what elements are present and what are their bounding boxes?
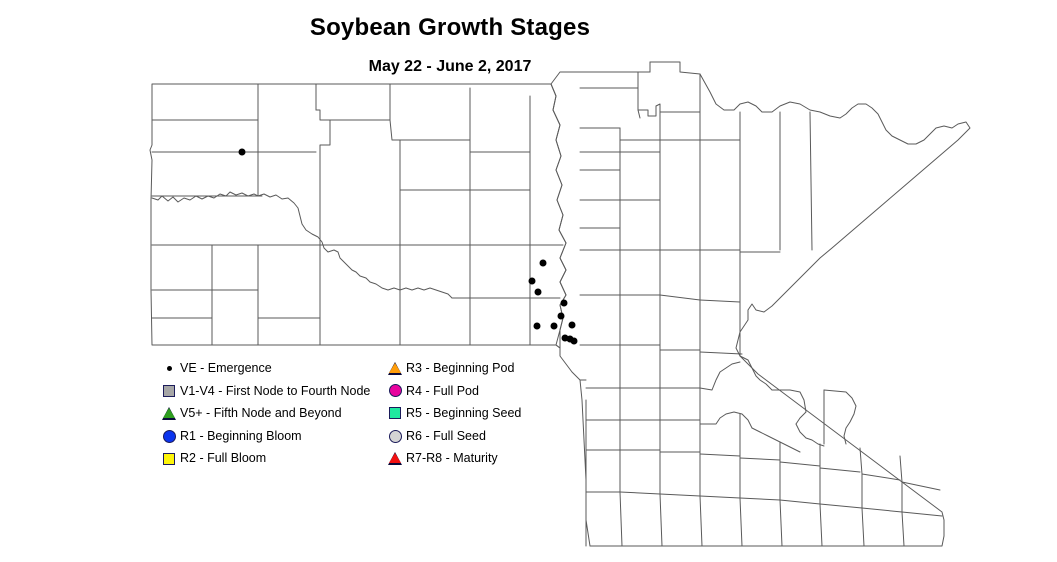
mn-county-line bbox=[700, 352, 742, 354]
legend-item-r4: R4 - Full Pod bbox=[384, 380, 524, 403]
map-data-point bbox=[571, 338, 578, 345]
legend-item-label: V5+ - Fifth Node and Beyond bbox=[180, 407, 342, 420]
legend-symbol-dot-icon bbox=[158, 358, 180, 378]
map-data-point bbox=[558, 313, 565, 320]
mn-county-line bbox=[900, 456, 902, 482]
mn-county-line bbox=[660, 494, 700, 496]
nd-county-line bbox=[316, 110, 330, 152]
minnesota-outline bbox=[551, 62, 970, 546]
legend-item-label: V1-V4 - First Node to Fourth Node bbox=[180, 385, 370, 398]
mn-county-line bbox=[660, 494, 662, 546]
mn-county-line bbox=[862, 508, 864, 546]
legend-item-r6: R6 - Full Seed bbox=[384, 425, 524, 448]
legend-item-r3: R3 - Beginning Pod bbox=[384, 357, 524, 380]
soybean-growth-stages-map-page: Soybean Growth Stages May 22 - June 2, 2… bbox=[0, 0, 1057, 562]
legend-item-label: VE - Emergence bbox=[180, 362, 272, 375]
legend-item-ve: VE - Emergence bbox=[158, 357, 383, 380]
legend-symbol-triangle-icon bbox=[384, 358, 406, 378]
map-data-point bbox=[569, 322, 576, 329]
legend-item-r5: R5 - Beginning Seed bbox=[384, 402, 524, 425]
mn-county-line bbox=[862, 474, 900, 480]
legend-item-label: R2 - Full Bloom bbox=[180, 452, 266, 465]
legend-item-label: R6 - Full Seed bbox=[406, 430, 486, 443]
legend-item-label: R7-R8 - Maturity bbox=[406, 452, 498, 465]
mn-county-line bbox=[810, 112, 812, 250]
mn-county-line bbox=[700, 362, 740, 390]
mn-county-line bbox=[772, 390, 806, 424]
nd-county-line bbox=[390, 120, 400, 152]
legend-item-v5plus: V5+ - Fifth Node and Beyond bbox=[158, 402, 383, 425]
legend-symbol-circle-icon bbox=[384, 381, 406, 401]
mn-county-line bbox=[620, 492, 660, 494]
legend-column-right: R3 - Beginning PodR4 - Full PodR5 - Begi… bbox=[384, 357, 524, 470]
legend-item-r2: R2 - Full Bloom bbox=[158, 447, 383, 470]
legend-item-label: R1 - Beginning Bloom bbox=[180, 430, 302, 443]
mn-county-line bbox=[638, 72, 640, 118]
legend-symbol-circle-icon bbox=[158, 426, 180, 446]
legend-item-r1: R1 - Beginning Bloom bbox=[158, 425, 383, 448]
mn-county-line bbox=[638, 104, 660, 116]
map-data-point bbox=[535, 289, 542, 296]
map-data-point bbox=[551, 323, 558, 330]
mn-county-line bbox=[740, 498, 742, 546]
mn-county-line bbox=[820, 504, 862, 508]
mn-county-line bbox=[700, 412, 752, 428]
mn-county-line bbox=[740, 498, 780, 500]
legend-item-label: R5 - Beginning Seed bbox=[406, 407, 521, 420]
map-data-point bbox=[534, 323, 541, 330]
legend-symbol-square-icon bbox=[384, 403, 406, 423]
legend-column-left: VE - EmergenceV1-V4 - First Node to Four… bbox=[158, 357, 383, 470]
legend-item-label: R3 - Beginning Pod bbox=[406, 362, 514, 375]
mn-county-line bbox=[700, 496, 702, 546]
legend-item-label: R4 - Full Pod bbox=[406, 385, 479, 398]
mn-county-line bbox=[820, 504, 822, 546]
mn-county-line bbox=[740, 458, 780, 460]
mn-county-line bbox=[620, 492, 622, 546]
mn-county-line bbox=[780, 462, 820, 466]
mn-county-line bbox=[700, 454, 740, 456]
legend-symbol-square-icon bbox=[158, 449, 180, 469]
mn-county-line bbox=[862, 508, 902, 512]
map-data-point bbox=[561, 300, 568, 307]
mn-county-line bbox=[752, 428, 800, 452]
mn-county-line bbox=[700, 496, 740, 498]
legend-item-r7-r8: R7-R8 - Maturity bbox=[384, 447, 524, 470]
legend-symbol-circle-icon bbox=[384, 426, 406, 446]
mn-county-line bbox=[660, 295, 700, 300]
map-data-point bbox=[540, 260, 547, 267]
map-data-point bbox=[529, 278, 536, 285]
mn-county-line bbox=[820, 468, 860, 472]
mn-county-line bbox=[780, 500, 782, 546]
mn-county-line bbox=[700, 300, 740, 302]
mn-county-line bbox=[902, 512, 942, 516]
mn-county-line bbox=[796, 424, 824, 446]
mn-county-line bbox=[780, 500, 820, 504]
legend-item-v1-v4: V1-V4 - First Node to Fourth Node bbox=[158, 380, 383, 403]
legend-symbol-square-icon bbox=[158, 381, 180, 401]
legend-symbol-triangle-icon bbox=[384, 449, 406, 469]
mn-county-line bbox=[902, 512, 904, 546]
legend-symbol-triangle-icon bbox=[158, 403, 180, 423]
map-data-point bbox=[239, 149, 246, 156]
